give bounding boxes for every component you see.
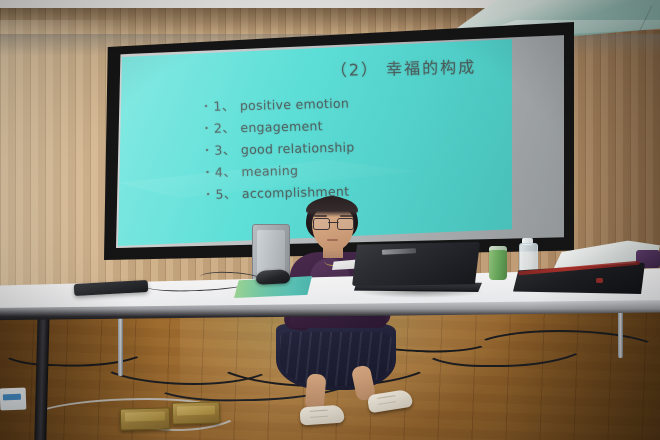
bullet-dot-icon: • (204, 125, 209, 133)
floor-power-box-lid (177, 406, 215, 416)
skirt-folds (280, 332, 392, 386)
laptop-lid (352, 242, 480, 286)
list-item: • 1、 positive emotion (203, 92, 353, 115)
eyebrow-left (314, 215, 327, 217)
bullet-number: 1、 (213, 95, 235, 115)
table-leg (118, 316, 123, 376)
bullet-dot-icon: • (204, 103, 209, 111)
seated-presenter (258, 196, 458, 440)
lecture-room-photo: （2） 幸福的构成 • 1、 positive emotion • 2、 eng… (0, 0, 660, 440)
floor-power-box-lid (125, 411, 165, 421)
shoe-lace (377, 395, 396, 405)
eyebrow-right (340, 215, 353, 217)
floor-power-box[interactable] (172, 401, 221, 424)
glasses-lens-left (313, 218, 330, 230)
laptop-shadow (356, 290, 484, 298)
laptop[interactable] (352, 242, 484, 294)
slide-title: （2） 幸福的构成 (331, 54, 477, 81)
computer-mouse[interactable] (256, 269, 291, 285)
floor-power-box[interactable] (120, 407, 171, 430)
bullet-text: meaning (241, 163, 298, 179)
bullet-dot-icon: • (205, 147, 210, 155)
bullet-text: good relationship (241, 139, 355, 157)
bullet-number: 2、 (214, 117, 236, 137)
cable-bundle (470, 330, 660, 375)
shoe-left (299, 404, 344, 425)
bullet-number: 3、 (214, 139, 236, 159)
slide-bullet-list: • 1、 positive emotion • 2、 engagement • … (203, 92, 355, 203)
bag-red-accent (596, 278, 603, 283)
list-item: • 4、 meaning (205, 158, 355, 181)
bullet-dot-icon: • (206, 191, 211, 199)
bullet-text: engagement (240, 118, 323, 135)
bullet-number: 4、 (215, 161, 237, 181)
glasses-icon (313, 218, 354, 228)
green-thermos[interactable] (489, 250, 507, 280)
floor-sign-card (0, 388, 26, 411)
shoe-lace (310, 410, 328, 418)
list-item: • 3、 good relationship (204, 136, 354, 159)
bullet-dot-icon: • (205, 169, 210, 177)
laptop-brand-logo (382, 248, 416, 255)
bullet-text: positive emotion (240, 96, 350, 114)
bullet-number: 5、 (215, 183, 237, 203)
hair-fringe (306, 197, 358, 217)
glasses-lens-right (337, 218, 354, 230)
list-item: • 2、 engagement (204, 114, 354, 137)
